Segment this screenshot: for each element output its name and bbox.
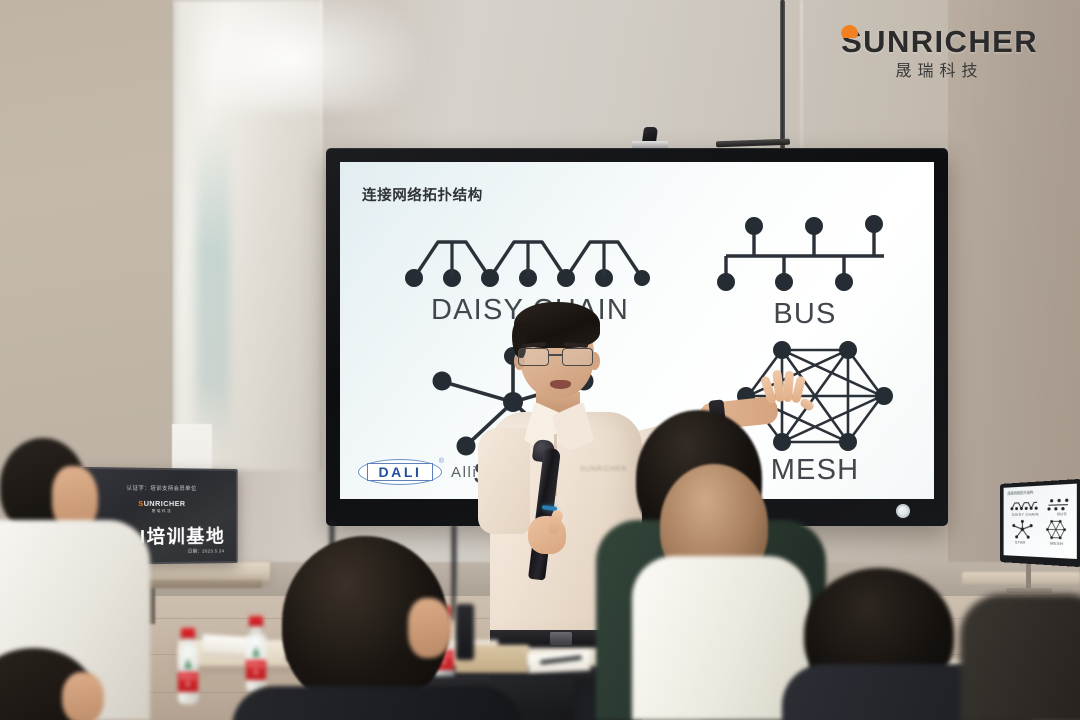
- presenter-belt-buckle: [550, 632, 572, 645]
- water-bottle: 农夫山泉: [178, 628, 198, 706]
- topology-daisy-chain: DAISY CHAIN: [400, 220, 660, 292]
- side-monitor-screen: 连接网络拓扑结构 DAISY CHAIN BUS STAR MESH: [1004, 484, 1077, 559]
- wall-seam: [320, 0, 322, 470]
- water-bottle: 农夫山泉: [246, 616, 266, 694]
- slide-title: 连接网络拓扑结构: [362, 184, 483, 205]
- topology-bus: BUS: [710, 214, 900, 294]
- brand-wordmark: SUNRICHER: [841, 26, 1038, 57]
- classroom-scene: SUNRICHER 晟瑞科技 连接网络拓扑结构: [0, 0, 1080, 720]
- dali-wordmark: DALI: [378, 465, 421, 479]
- wall-reflection-strip: [196, 120, 230, 450]
- plaque-subtitle: 认证字：培训支持会员单位: [127, 484, 197, 493]
- plaque-brand: SUNRICHER: [138, 499, 185, 508]
- bottle-label: 农夫山泉: [246, 662, 266, 676]
- side-monitor-caption: STAR: [1015, 539, 1026, 544]
- bottle-label: 农夫山泉: [178, 674, 198, 688]
- dali-logo-mark: DALI ®: [358, 459, 442, 485]
- wall-left-panel: [0, 0, 172, 470]
- side-monitor[interactable]: 连接网络拓扑结构 DAISY CHAIN BUS STAR MESH: [1000, 479, 1080, 567]
- wall-light-glow: [196, 0, 426, 110]
- presenter-right-hand: [762, 372, 816, 430]
- glasses-icon: [516, 348, 598, 367]
- presenter-mouth: [550, 380, 571, 389]
- plaque-date: 日期：2023.5.24: [188, 548, 225, 554]
- presenter-hair: [514, 302, 600, 348]
- plaque-brand-rest: UNRICHER: [144, 499, 186, 508]
- presenter-chest-logo: SUNRICHER: [580, 466, 627, 473]
- side-monitor-caption: DAISY CHAIN: [1012, 511, 1039, 517]
- sunricher-logo: SUNRICHER 晟瑞科技: [841, 26, 1038, 80]
- brand-name-cn: 晟瑞科技: [841, 64, 1038, 80]
- side-monitor-stand: [1004, 562, 1054, 596]
- side-monitor-caption: MESH: [1050, 540, 1063, 546]
- presenter-left-hand: [528, 508, 570, 558]
- webcam-icon: [626, 128, 674, 150]
- side-monitor-title: 连接网络拓扑结构: [1007, 489, 1033, 495]
- power-indicator-icon[interactable]: [896, 504, 910, 518]
- side-monitor-caption: BUS: [1057, 511, 1067, 517]
- plaque-brand-cn: 晟瑞科技: [152, 509, 173, 514]
- brand-name: SUNRICHER: [841, 24, 1038, 59]
- tablet-device: [456, 604, 474, 660]
- display-mount-pole: [780, 0, 785, 150]
- presenter-left-sleeve: [478, 428, 530, 534]
